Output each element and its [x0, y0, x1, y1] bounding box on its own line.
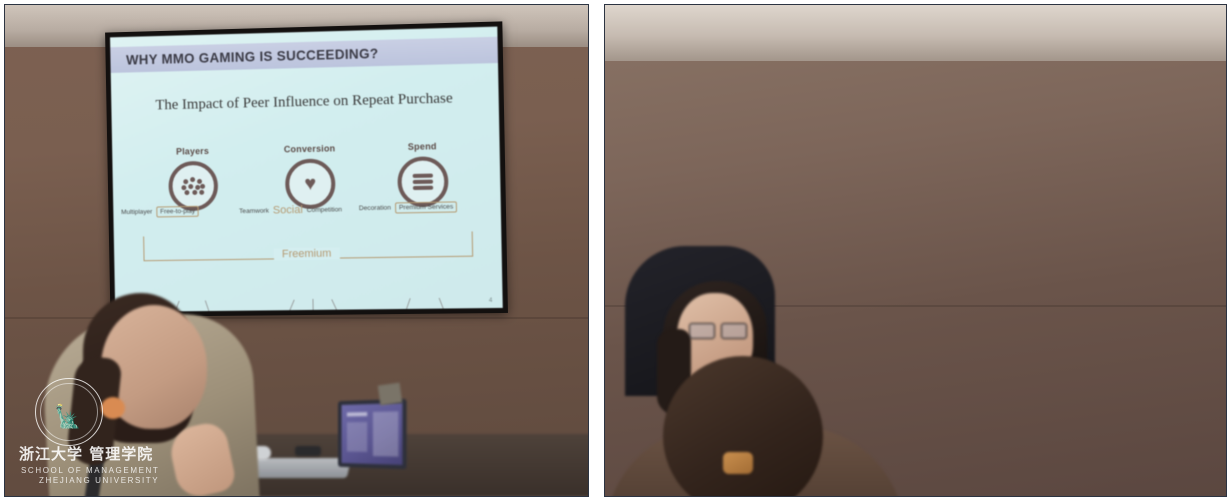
bracket-right-stem — [472, 231, 474, 256]
freemium-bracket: Freemium — [143, 231, 473, 268]
freemium-label: Freemium — [274, 248, 340, 261]
cluster-conversion-leaves: Teamwork Social Competition — [239, 203, 342, 217]
presenter-hair-tie — [101, 397, 125, 419]
slide-left-page-number: 4 — [489, 298, 493, 304]
leaf-teamwork: Teamwork — [239, 207, 269, 214]
leaf-premium-services: Premium Services — [395, 201, 458, 213]
leaf-free-to-play: Free-to-play — [156, 206, 199, 218]
slide-left: WHY MMO GAMING IS SUCCEEDING? The Impact… — [110, 27, 503, 312]
projection-screen-left: WHY MMO GAMING IS SUCCEEDING? The Impact… — [105, 21, 508, 317]
screenshot-root: WHY MMO GAMING IS SUCCEEDING? The Impact… — [0, 0, 1229, 499]
cluster-spend-connectors — [375, 297, 477, 312]
people-dots — [181, 177, 205, 195]
desk-object — [295, 446, 321, 456]
hair-clip — [723, 452, 753, 474]
laptop-screen — [342, 403, 403, 465]
coins-stack-icon — [397, 156, 449, 207]
left-photo-panel: WHY MMO GAMING IS SUCCEEDING? The Impact… — [4, 4, 589, 497]
right-photo: 文献综述：酒店预订策略 • Advanced booking and reven… — [605, 5, 1226, 496]
slide-title: WHY MMO GAMING IS SUCCEEDING? — [126, 45, 379, 67]
glasses-icon — [689, 323, 745, 337]
heart-icon: ♥ — [285, 158, 336, 209]
cluster-conversion-heading: Conversion — [260, 143, 360, 155]
laptop-lid — [338, 399, 407, 470]
leaf-competition: Competition — [307, 206, 342, 214]
leaf-decoration: Decoration — [359, 205, 391, 213]
cluster-conversion-connectors — [263, 298, 363, 312]
cluster-spend-leaves: Decoration Premium Services — [359, 201, 458, 214]
left-photo: WHY MMO GAMING IS SUCCEEDING? The Impact… — [5, 5, 588, 496]
ceiling-right — [605, 5, 1226, 61]
cluster-players: Players — [143, 145, 243, 211]
cluster-spend: Spend — [372, 140, 475, 207]
cluster-players-leaves: Multiplayer Free-to-play — [121, 206, 199, 218]
cluster-players-heading: Players — [143, 145, 242, 157]
right-photo-panel: 文献综述：酒店预订策略 • Advanced booking and reven… — [604, 4, 1227, 497]
people-group-icon — [168, 161, 218, 212]
leaf-multiplayer: Multiplayer — [121, 209, 152, 216]
cluster-spend-heading: Spend — [372, 140, 473, 152]
bracket-left-stem — [143, 236, 144, 261]
slide-title-bar: WHY MMO GAMING IS SUCCEEDING? — [110, 37, 498, 73]
cluster-conversion: Conversion ♥ — [260, 143, 361, 210]
slide-subtitle: The Impact of Peer Influence on Repeat P… — [111, 89, 499, 115]
leaf-social: Social — [273, 204, 303, 216]
camera-device — [378, 383, 403, 406]
coins-shape — [413, 174, 434, 190]
